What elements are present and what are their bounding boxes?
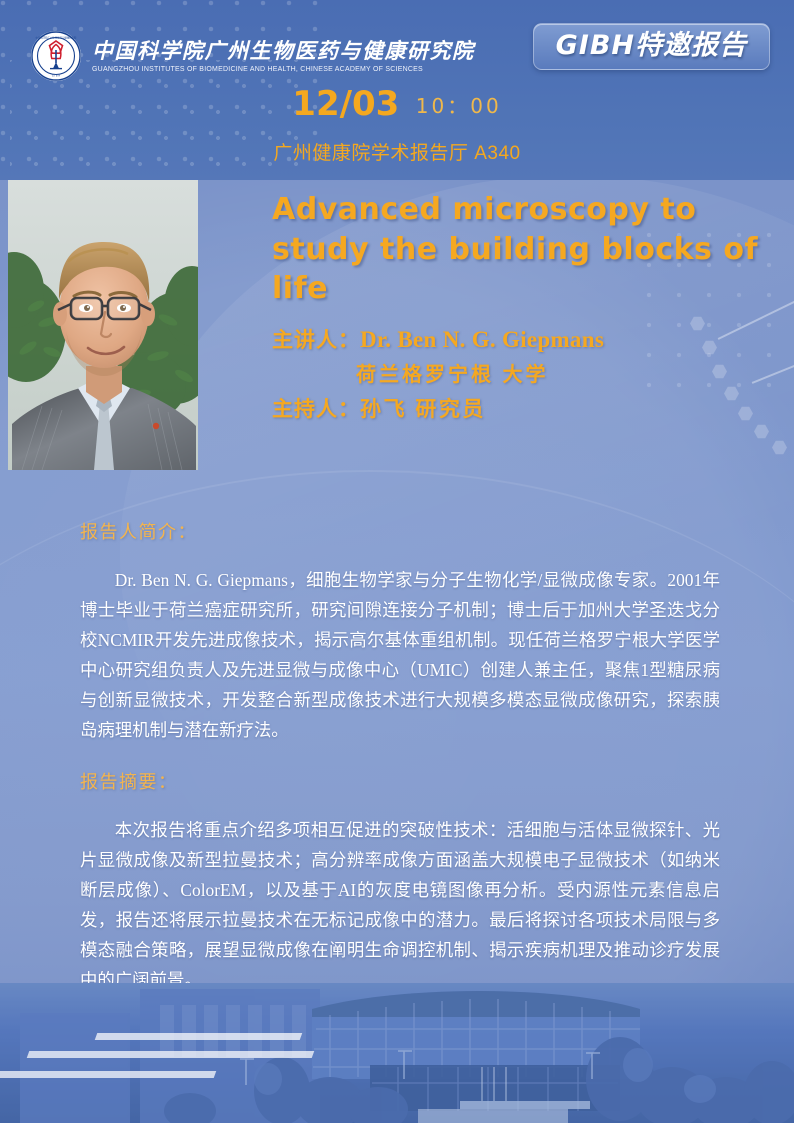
- speaker-affiliation-row: 荷兰格罗宁根 大学: [272, 365, 772, 385]
- institute-name-cn: 中国科学院广州生物医药与健康研究院: [92, 39, 475, 63]
- campus-building-photo: [0, 983, 794, 1123]
- svg-text:G I B H: G I B H: [52, 75, 60, 78]
- gibh-emblem-icon: 中国科学院广州生物医药与健康研究院 G I B H: [30, 30, 82, 82]
- event-date: 12/03: [292, 84, 399, 124]
- svg-text:中国科学院广州生物医药与健康研究院: 中国科学院广州生物医药与健康研究院: [36, 35, 77, 39]
- page-title: Advanced microscopy to study the buildin…: [272, 190, 772, 309]
- speaker-name: Dr. Ben N. G. Giepmans: [360, 327, 604, 352]
- host-name: 孙飞 研究员: [360, 398, 486, 421]
- abstract-section: 报告摘要： 本次报告将重点介绍多项相互促进的突破性技术：活细胞与活体显微探针、光…: [80, 768, 720, 996]
- poster-header: 中国科学院广州生物医药与健康研究院 G I B H 中国科学院广州生物医药与健康…: [0, 0, 794, 180]
- speaker-bio-section: 报告人简介： Dr. Ben N. G. Giepmans，细胞生物学家与分子生…: [80, 518, 720, 746]
- institute-logo-text: 中国科学院广州生物医药与健康研究院 GUANGZHOU INSTITUTES O…: [92, 39, 475, 73]
- speaker-portrait-photo: [8, 180, 198, 470]
- institute-name-en: GUANGZHOU INSTITUTES OF BIOMEDICINE AND …: [92, 64, 463, 73]
- speaker-bio-heading: 报告人简介：: [80, 518, 720, 544]
- abstract-heading: 报告摘要：: [80, 768, 720, 794]
- speaker-bio-text: Dr. Ben N. G. Giepmans，细胞生物学家与分子生物化学/显微成…: [80, 566, 720, 746]
- talk-title-block: Advanced microscopy to study the buildin…: [272, 190, 772, 309]
- speaker-row: 主讲人：Dr. Ben N. G. Giepmans: [272, 328, 772, 351]
- speaker-label: 主讲人：: [272, 329, 360, 352]
- gibh-lecture-badge: GIBH特邀报告: [533, 23, 770, 70]
- abstract-text: 本次报告将重点介绍多项相互促进的突破性技术：活细胞与活体显微探针、光片显微成像及…: [80, 816, 720, 996]
- speaker-affiliation: 荷兰格罗宁根 大学: [272, 364, 549, 386]
- speaker-info-block: 主讲人：Dr. Ben N. G. Giepmans 荷兰格罗宁根 大学 主持人…: [272, 328, 772, 434]
- host-label: 主持人：: [272, 398, 360, 421]
- poster-root: 中国科学院广州生物医药与健康研究院 G I B H 中国科学院广州生物医药与健康…: [0, 0, 794, 1123]
- institute-logo: 中国科学院广州生物医药与健康研究院 G I B H 中国科学院广州生物医药与健康…: [30, 30, 475, 82]
- event-venue: 广州健康院学术报告厅 A340: [0, 138, 794, 165]
- event-datetime: 12/03 10：00: [0, 84, 794, 124]
- gibh-lecture-badge-label: GIBH特邀报告: [556, 30, 747, 61]
- event-time: 10：00: [416, 94, 502, 118]
- host-row: 主持人：孙飞 研究员: [272, 399, 772, 420]
